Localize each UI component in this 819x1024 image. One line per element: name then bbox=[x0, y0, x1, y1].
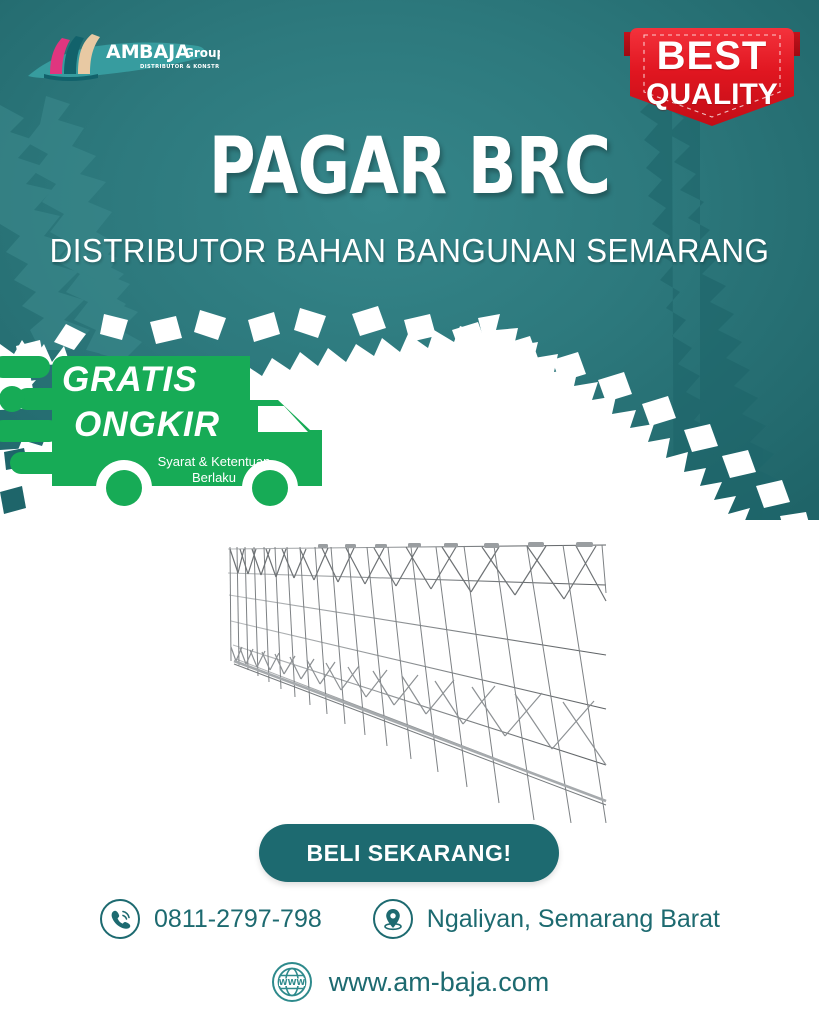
phone-icon bbox=[99, 898, 141, 940]
website-url: www.am-baja.com bbox=[329, 967, 550, 998]
logo-text-am: AM bbox=[106, 41, 140, 63]
best-quality-badge: BEST QUALITY bbox=[624, 22, 800, 130]
phone-number: 0811-2797-798 bbox=[154, 905, 322, 934]
globe-www-label: WWW bbox=[278, 978, 305, 987]
logo-text-baja: BAJA bbox=[139, 41, 190, 63]
badge-line-quality: QUALITY bbox=[624, 80, 800, 110]
website-row[interactable]: WWW www.am-baja.com bbox=[0, 960, 819, 1004]
contact-location[interactable]: Ngaliyan, Semarang Barat bbox=[372, 898, 720, 940]
contact-phone[interactable]: 0811-2797-798 bbox=[99, 898, 322, 940]
promo-terms-line2: Berlaku bbox=[114, 470, 314, 486]
promo-terms-line1: Syarat & Ketentuan bbox=[114, 454, 314, 470]
contact-row: 0811-2797-798 Ngaliyan, Semarang Barat bbox=[0, 898, 819, 940]
buy-now-button[interactable]: BELI SEKARANG! bbox=[259, 824, 559, 882]
location-text: Ngaliyan, Semarang Barat bbox=[427, 905, 720, 934]
map-pin-icon bbox=[372, 898, 414, 940]
page-subtitle: DISTRIBUTOR BAHAN BANGUNAN SEMARANG bbox=[20, 232, 798, 270]
page-title: PAGAR BRC bbox=[74, 128, 746, 206]
promo-poster: AM BAJA Group DISTRIBUTOR & KONSTRUKSI bbox=[0, 0, 819, 1024]
logo-tagline: DISTRIBUTOR & KONSTRUKSI bbox=[140, 64, 220, 70]
globe-icon: WWW bbox=[270, 960, 314, 1004]
badge-text-block: BEST QUALITY bbox=[624, 36, 800, 110]
promo-line-ongkir: ONGKIR bbox=[74, 405, 284, 445]
brand-logo: AM BAJA Group DISTRIBUTOR & KONSTRUKSI bbox=[20, 28, 220, 86]
promo-terms: Syarat & Ketentuan Berlaku bbox=[114, 454, 314, 487]
free-shipping-truck-badge: GRATIS ONGKIR Syarat & Ketentuan Berlaku bbox=[0, 338, 342, 523]
badge-line-best: BEST bbox=[624, 36, 800, 76]
logo-text-group: Group bbox=[184, 46, 220, 60]
product-image-pagar-brc bbox=[214, 533, 614, 823]
promo-line-gratis: GRATIS bbox=[62, 360, 262, 400]
